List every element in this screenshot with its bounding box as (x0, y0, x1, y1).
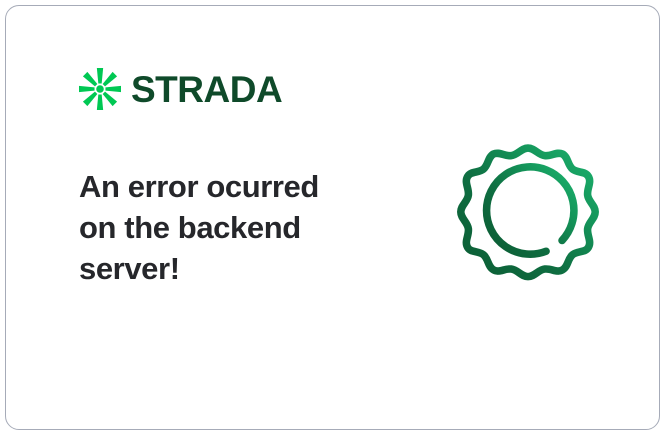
strada-asterisk-icon (79, 68, 121, 110)
brand-wordmark: STRADA (131, 71, 282, 108)
gear-cog-icon (444, 138, 612, 306)
brand-lockup: STRADA (79, 67, 282, 111)
error-card: STRADA An error ocurred on the backend s… (5, 5, 660, 430)
screen-root: STRADA An error ocurred on the backend s… (0, 0, 666, 436)
gear-illustration (444, 138, 612, 306)
error-headline: An error ocurred on the backend server! (79, 166, 379, 290)
